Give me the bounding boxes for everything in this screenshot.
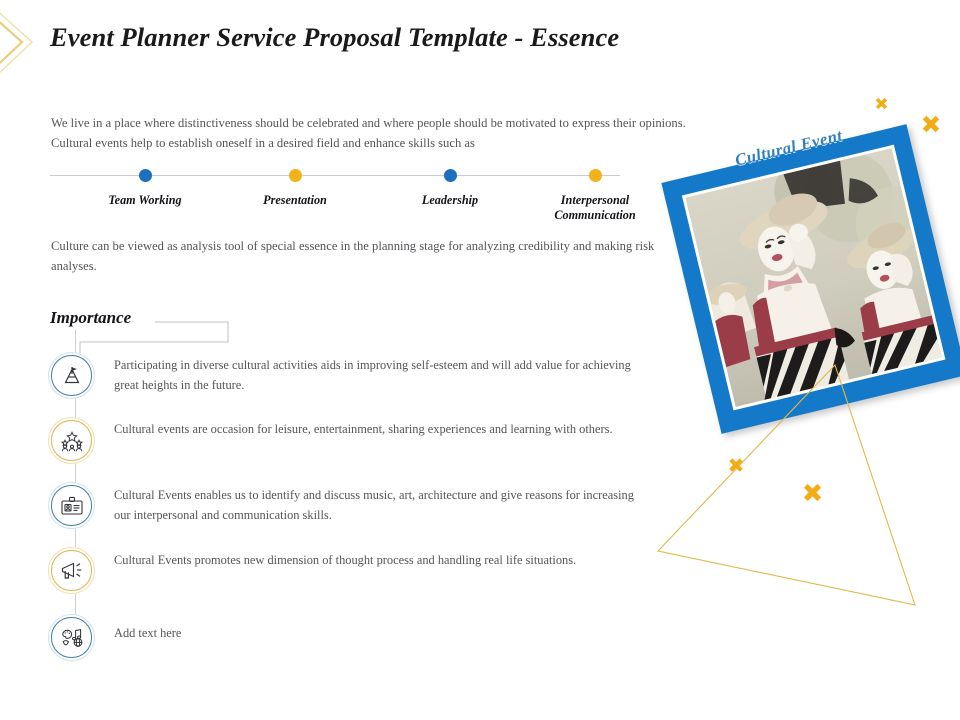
section-title: Importance bbox=[50, 308, 131, 328]
id-badge-icon bbox=[48, 482, 95, 529]
timeline-node-1[interactable]: Team Working bbox=[70, 160, 220, 208]
mountain-flag-icon bbox=[48, 352, 95, 399]
x-mark-decoration-2 bbox=[920, 113, 942, 135]
timeline-label: Leadership bbox=[375, 193, 525, 208]
timeline-node-2[interactable]: Presentation bbox=[220, 160, 370, 208]
importance-section-header: Importance bbox=[50, 308, 300, 358]
page-title: Event Planner Service Proposal Template … bbox=[50, 22, 870, 53]
timeline-dot-icon bbox=[139, 169, 152, 182]
list-item-text: Cultural Events promotes new dimension o… bbox=[114, 551, 634, 571]
x-mark-decoration-1 bbox=[874, 96, 889, 111]
arts-globe-icon bbox=[48, 614, 95, 661]
timeline-dot-icon bbox=[289, 169, 302, 182]
list-item-text: Add text here bbox=[114, 624, 634, 644]
timeline-node-4[interactable]: Interpersonal Communication bbox=[530, 160, 660, 223]
timeline-label: Team Working bbox=[70, 193, 220, 208]
people-stars-icon bbox=[48, 417, 95, 464]
timeline-dot-icon bbox=[444, 169, 457, 182]
skills-timeline: Team Working Presentation Leadership Int… bbox=[50, 160, 620, 230]
megaphone-icon bbox=[48, 547, 95, 594]
chevron-decoration bbox=[0, 6, 36, 80]
timeline-label: Presentation bbox=[220, 193, 370, 208]
timeline-label: Interpersonal Communication bbox=[530, 193, 660, 223]
timeline-node-3[interactable]: Leadership bbox=[375, 160, 525, 208]
timeline-dot-icon bbox=[589, 169, 602, 182]
list-item-text: Cultural Events enables us to identify a… bbox=[114, 486, 634, 525]
culture-paragraph: Culture can be viewed as analysis tool o… bbox=[51, 236, 661, 276]
x-mark-decoration-3 bbox=[727, 456, 745, 474]
list-item-text: Participating in diverse cultural activi… bbox=[114, 356, 634, 395]
x-mark-decoration-4 bbox=[801, 481, 824, 504]
intro-paragraph: We live in a place where distinctiveness… bbox=[51, 113, 711, 153]
triangle-decoration bbox=[650, 355, 940, 625]
slide-canvas: Event Planner Service Proposal Template … bbox=[0, 0, 960, 720]
list-item-text: Cultural events are occasion for leisure… bbox=[114, 420, 634, 440]
